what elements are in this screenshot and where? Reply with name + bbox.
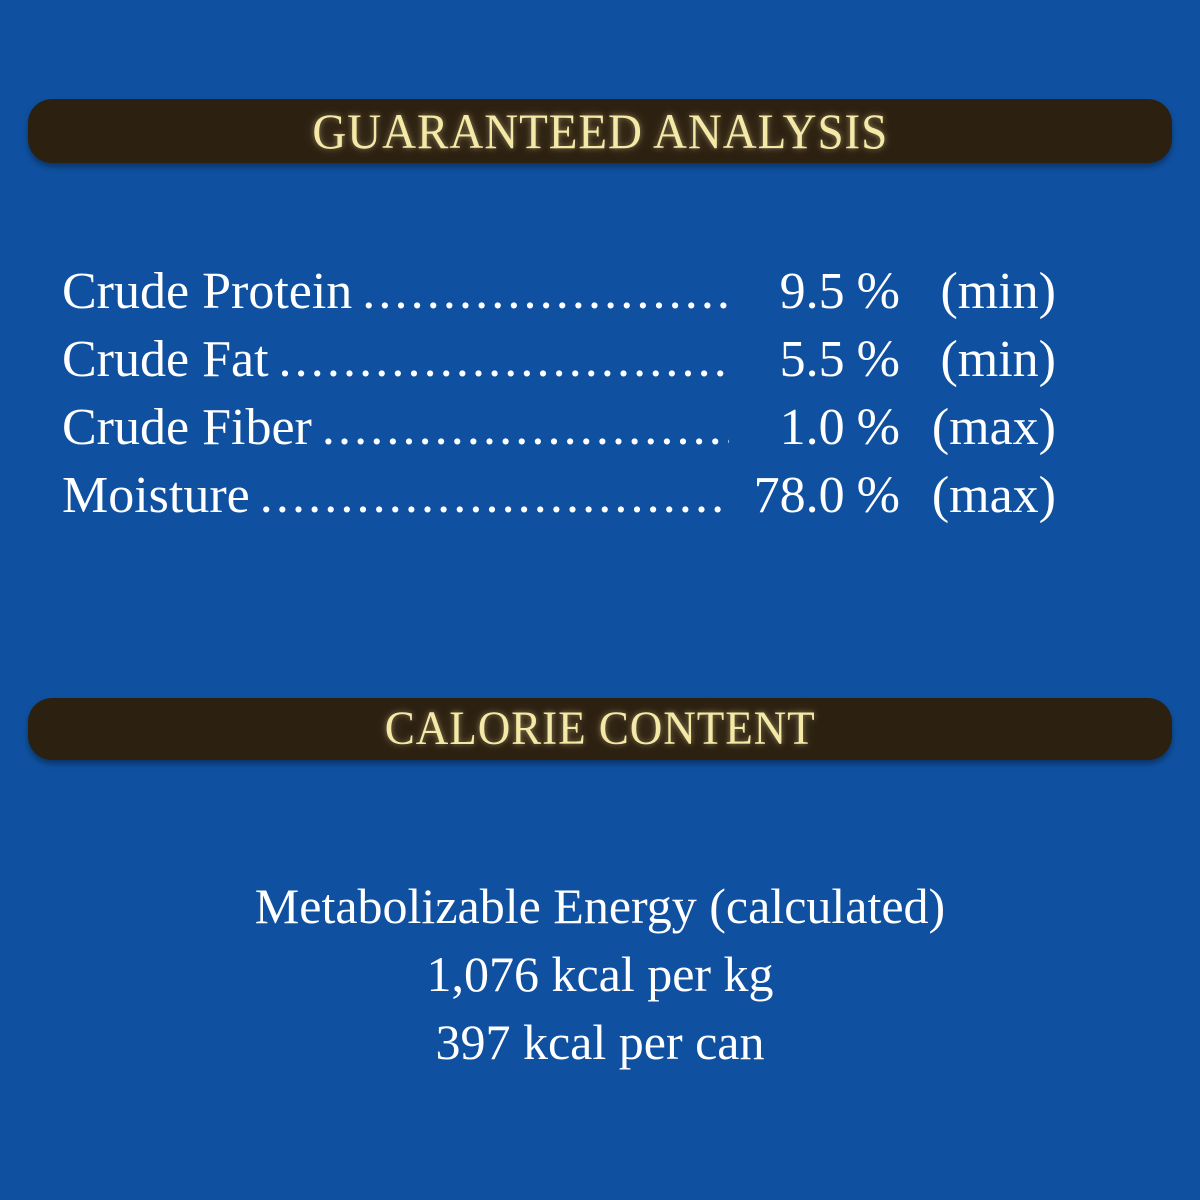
nutrient-basis: (min) — [900, 258, 1056, 326]
nutrient-value-group: 1.0 % (max) — [729, 394, 1056, 462]
guaranteed-analysis-banner: GUARANTEED ANALYSIS — [28, 99, 1172, 163]
table-row: Crude Fat ..............................… — [62, 326, 1056, 394]
nutrient-unit: % — [845, 326, 900, 394]
nutrient-amount: 9.5 — [729, 258, 845, 326]
calorie-content-details: Metabolizable Energy (calculated) 1,076 … — [0, 872, 1200, 1076]
nutrient-amount: 78.0 — [729, 462, 845, 530]
table-row: Crude Protein ..........................… — [62, 258, 1056, 326]
dot-leader: ........................................… — [362, 258, 728, 326]
calorie-content-banner: CALORIE CONTENT — [28, 698, 1172, 760]
nutrient-unit: % — [845, 258, 900, 326]
table-row: Crude Fiber ............................… — [62, 394, 1056, 462]
dot-leader: ........................................… — [260, 462, 729, 530]
dot-leader: ........................................… — [279, 326, 729, 394]
calorie-content-heading: CALORIE CONTENT — [385, 705, 816, 753]
nutrient-value-group: 9.5 % (min) — [729, 258, 1056, 326]
nutrient-basis: (max) — [900, 394, 1056, 462]
guaranteed-analysis-table: Crude Protein ..........................… — [62, 258, 1056, 530]
nutrient-basis: (max) — [900, 462, 1056, 530]
kcal-per-can-value: 397 kcal per can — [0, 1008, 1200, 1076]
nutrient-amount: 5.5 — [729, 326, 845, 394]
nutrient-name: Crude Fiber — [62, 394, 322, 462]
table-row: Moisture ...............................… — [62, 462, 1056, 530]
guaranteed-analysis-heading: GUARANTEED ANALYSIS — [312, 106, 888, 156]
nutrient-name: Crude Protein — [62, 258, 362, 326]
nutrient-value-group: 78.0 % (max) — [729, 462, 1056, 530]
kcal-per-kg-value: 1,076 kcal per kg — [0, 940, 1200, 1008]
metabolizable-energy-label: Metabolizable Energy (calculated) — [0, 872, 1200, 940]
nutrient-unit: % — [845, 462, 900, 530]
nutrient-unit: % — [845, 394, 900, 462]
nutrient-name: Crude Fat — [62, 326, 279, 394]
nutrient-basis: (min) — [900, 326, 1056, 394]
nutrient-amount: 1.0 — [729, 394, 845, 462]
nutrient-value-group: 5.5 % (min) — [729, 326, 1056, 394]
nutrient-name: Moisture — [62, 462, 260, 530]
pet-food-label-panel: GUARANTEED ANALYSIS Crude Protein ......… — [0, 0, 1200, 1200]
dot-leader: ........................................… — [322, 394, 729, 462]
